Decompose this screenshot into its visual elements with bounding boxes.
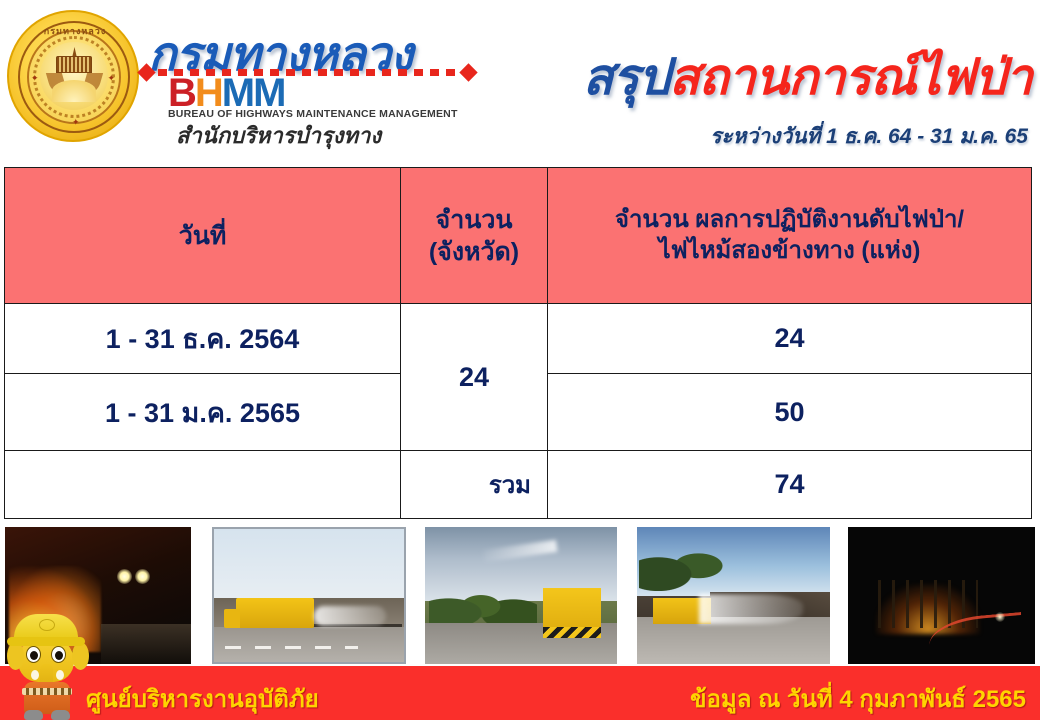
page-title: สรุปสถานการณ์ไฟป่า bbox=[583, 38, 1032, 117]
column-header-date: วันที่ bbox=[5, 168, 401, 304]
photo-strip bbox=[0, 527, 1040, 667]
cell-sites-1: 24 bbox=[548, 304, 1032, 374]
table-body: 1 - 31 ธ.ค. 2564 24 24 1 - 31 ม.ค. 2565 … bbox=[5, 304, 1032, 519]
photo1-headlight-right bbox=[135, 569, 150, 584]
seal-star-right: ✦ bbox=[107, 74, 115, 83]
diamond-right-icon bbox=[459, 63, 477, 81]
seal-mound bbox=[52, 80, 96, 102]
column-header-province-count: จำนวน (จังหวัด) bbox=[401, 168, 548, 304]
cell-province-count: 24 bbox=[401, 304, 548, 451]
table-row: 1 - 31 ธ.ค. 2564 24 24 bbox=[5, 304, 1032, 374]
bhmm-letter-m2: M bbox=[253, 76, 284, 110]
seal-pavilion bbox=[56, 56, 92, 73]
wildfire-summary-table: วันที่ จำนวน (จังหวัด) จำนวน ผลการปฏิบัต… bbox=[4, 167, 1032, 519]
bhmm-logo: B H M M bbox=[168, 76, 284, 110]
column-header-fire-sites: จำนวน ผลการปฏิบัติงานดับไฟป่า/ ไฟไหม้สอง… bbox=[548, 168, 1032, 304]
photo5-vehicle-light bbox=[995, 612, 1005, 622]
seal-star-left: ✦ bbox=[31, 74, 39, 83]
photo2-lane-marking bbox=[225, 646, 358, 649]
page-title-prefix: สรุป bbox=[583, 49, 669, 105]
department-seal-icon: กรมทางหลวง ✦ ✦ ✦ bbox=[7, 10, 139, 142]
cell-total-value: 74 bbox=[548, 451, 1032, 519]
photo3-palm-trees bbox=[429, 574, 537, 626]
photo4-water-jet bbox=[699, 594, 803, 624]
column-header-fire-sites-line2: ไฟไหม้สองข้างทาง (แห่ง) bbox=[554, 236, 1025, 267]
mascot-tool-belt bbox=[22, 688, 72, 695]
cell-date-1: 1 - 31 ธ.ค. 2564 bbox=[5, 304, 401, 374]
photo-truck-spraying-roadside bbox=[212, 527, 406, 664]
bhmm-letter-b: B bbox=[168, 76, 195, 110]
mascot-ear-left bbox=[7, 642, 24, 670]
mascot-tusk-left bbox=[31, 670, 39, 680]
photo2-fire-truck bbox=[236, 598, 314, 628]
mascot-eye-right bbox=[51, 646, 66, 663]
elephant-mascot-icon bbox=[6, 612, 90, 720]
page-header: กรมทางหลวง ✦ ✦ ✦ กรมทางหลวง B H M M BURE… bbox=[0, 0, 1040, 160]
photo4-roadway bbox=[637, 617, 830, 664]
report-page: กรมทางหลวง ✦ ✦ ✦ กรมทางหลวง B H M M BURE… bbox=[0, 0, 1040, 720]
column-header-fire-sites-line1: จำนวน ผลการปฏิบัติงานดับไฟป่า/ bbox=[554, 205, 1025, 236]
seal-caption-text: กรมทางหลวง bbox=[9, 24, 139, 38]
bhmm-letter-h: H bbox=[195, 76, 222, 110]
photo-night-wildfire-hose bbox=[848, 527, 1035, 664]
footer-department-label: ศูนย์บริหารงานอุบัติภัย bbox=[86, 679, 319, 718]
page-title-main: สถานการณ์ไฟป่า bbox=[669, 49, 1032, 105]
cell-total-blank bbox=[5, 451, 401, 519]
mascot-foot-right bbox=[51, 710, 70, 720]
mascot-foot-left bbox=[24, 710, 43, 720]
page-subtitle-date-range: ระหว่างวันที่ 1 ธ.ค. 64 - 31 ม.ค. 65 bbox=[710, 120, 1028, 153]
cell-total-label: รวม bbox=[401, 451, 548, 519]
photo-boom-truck-spraying bbox=[425, 527, 617, 664]
footer-data-date-label: ข้อมูล ณ วันที่ 4 กุมภาพันธ์ 2565 bbox=[690, 679, 1026, 718]
bhmm-thai-subtitle: สำนักบริหารบำรุงทาง bbox=[176, 118, 381, 153]
photo2-roadway bbox=[214, 627, 404, 662]
table-header-row: วันที่ จำนวน (จังหวัด) จำนวน ผลการปฏิบัต… bbox=[5, 168, 1032, 304]
table-total-row: รวม 74 bbox=[5, 451, 1032, 519]
mascot-helmet-badge bbox=[39, 619, 55, 631]
column-header-province-count-line1: จำนวน bbox=[407, 204, 541, 236]
mascot-ear-right bbox=[72, 642, 89, 670]
photo2-water-spray bbox=[314, 606, 386, 626]
photo1-headlight-left bbox=[117, 569, 132, 584]
photo2-sky bbox=[214, 529, 404, 601]
cell-date-2: 1 - 31 ม.ค. 2565 bbox=[5, 374, 401, 451]
bhmm-letter-m1: M bbox=[222, 76, 253, 110]
footer-bar: ศูนย์บริหารงานอุบัติภัย ข้อมูล ณ วันที่ … bbox=[0, 666, 1040, 720]
mascot-tusk-right bbox=[56, 670, 64, 680]
seal-core bbox=[40, 42, 108, 110]
photo4-trees bbox=[639, 535, 735, 591]
mascot-eye-left bbox=[26, 646, 41, 663]
photo1-road bbox=[101, 624, 191, 664]
photo3-fire-truck bbox=[543, 588, 601, 638]
table-header: วันที่ จำนวน (จังหวัด) จำนวน ผลการปฏิบัต… bbox=[5, 168, 1032, 304]
mascot-hard-hat bbox=[14, 614, 78, 642]
cell-sites-2: 50 bbox=[548, 374, 1032, 451]
seal-star-bottom: ✦ bbox=[72, 118, 80, 127]
photo-truck-spraying-hillside bbox=[637, 527, 830, 664]
column-header-province-count-line2: (จังหวัด) bbox=[407, 236, 541, 268]
